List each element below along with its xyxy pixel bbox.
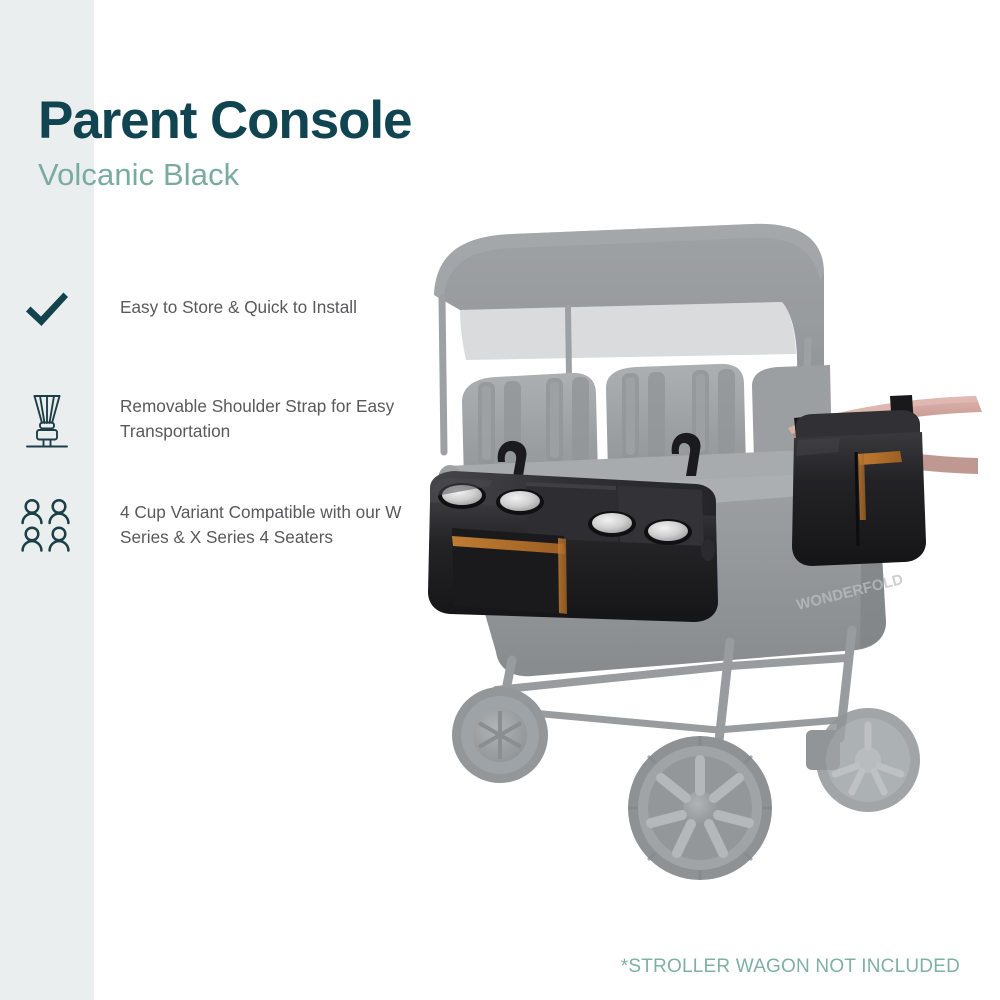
feature-item: 4 Cup Variant Compatible with our W Seri… <box>0 496 430 552</box>
feature-label: Easy to Store & Quick to Install <box>94 288 357 320</box>
feature-icon-slot <box>0 288 94 330</box>
disclaimer-text: *STROLLER WAGON NOT INCLUDED <box>621 956 960 978</box>
feature-icon-slot <box>0 390 94 450</box>
product-colorway-subtitle: Volcanic Black <box>38 157 411 193</box>
four-people-icon <box>20 498 74 552</box>
feature-icon-slot <box>0 496 94 552</box>
feature-item: Easy to Store & Quick to Install <box>0 288 430 344</box>
console-front-pocket <box>452 528 567 614</box>
product-marketing-page: Parent Console Volcanic Black Easy to St… <box>0 0 1000 1000</box>
shoulder-strap-icon <box>21 392 73 450</box>
feature-label: 4 Cup Variant Compatible with our W Seri… <box>94 496 414 550</box>
feature-list: Easy to Store & Quick to Install <box>0 288 430 598</box>
wagon-rear-wheel-far <box>816 708 920 812</box>
headline-block: Parent Console Volcanic Black <box>38 93 411 193</box>
wagon-front-wheel <box>452 687 548 783</box>
product-illustration: WONDERFOLD <box>400 190 1000 890</box>
parent-console-side <box>792 395 926 566</box>
feature-item: Removable Shoulder Strap for Easy Transp… <box>0 390 430 450</box>
feature-label: Removable Shoulder Strap for Easy Transp… <box>94 390 414 444</box>
wagon-rear-wheel <box>628 736 772 880</box>
console-zipper-pull <box>701 539 715 561</box>
page-title: Parent Console <box>38 93 411 149</box>
checkmark-icon <box>24 290 70 330</box>
